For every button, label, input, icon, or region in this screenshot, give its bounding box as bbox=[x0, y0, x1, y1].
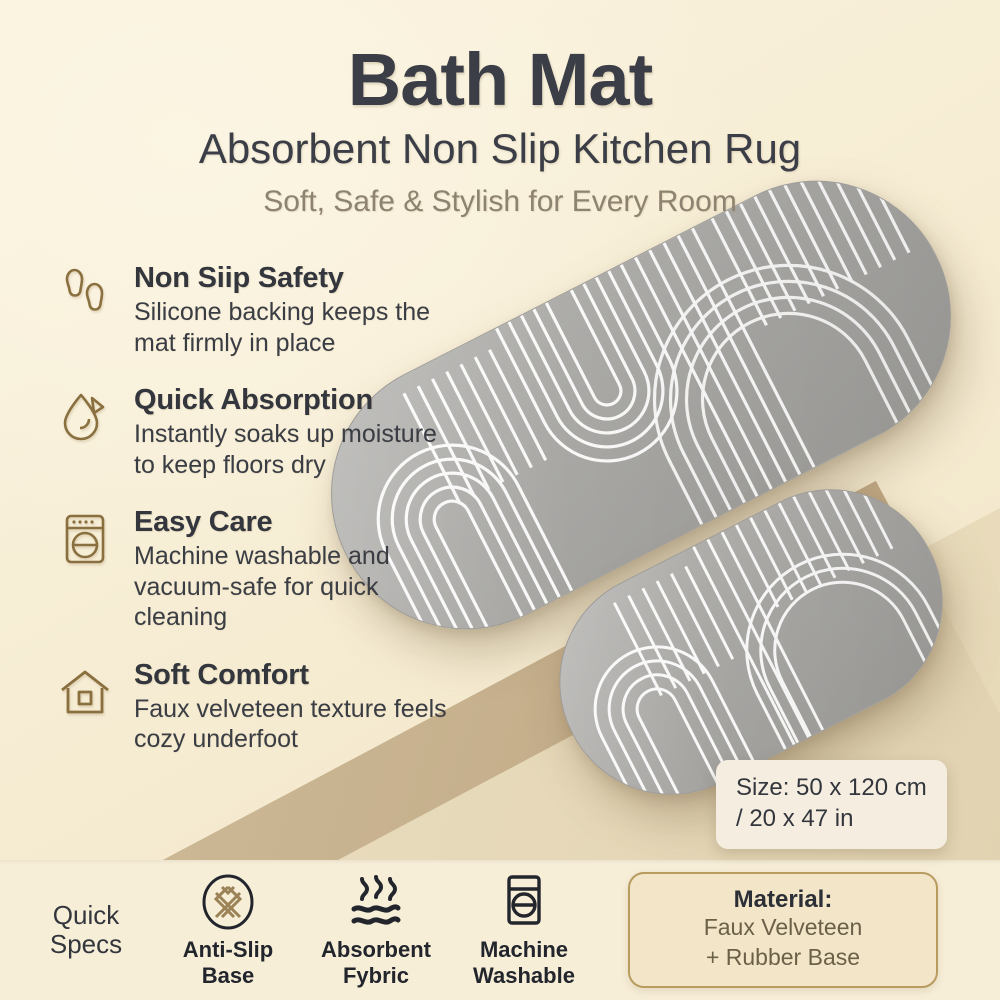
spec-label-line-2: Fybric bbox=[302, 963, 450, 989]
size-badge-line-2: / 20 x 47 in bbox=[736, 804, 927, 835]
feature-title: Soft Comfort bbox=[134, 659, 456, 692]
header: Bath Mat Absorbent Non Slip Kitchen Rug … bbox=[0, 0, 1000, 217]
feature-item-non-slip: Non Siip Safety Silicone backing keeps t… bbox=[56, 262, 456, 358]
feature-title: Quick Absorption bbox=[134, 384, 456, 417]
spec-label-line-1: Machine bbox=[450, 937, 598, 963]
material-box: Material: Faux Velveteen + Rubber Base bbox=[628, 872, 938, 988]
feature-description: Machine washable and vacuum-safe for qui… bbox=[134, 541, 456, 633]
size-badge-line-1: Size: 50 x 120 cm bbox=[736, 773, 927, 804]
footprints-icon bbox=[56, 266, 114, 324]
water-drop-icon bbox=[56, 388, 114, 446]
spec-label-line-2: Washable bbox=[450, 963, 598, 989]
feature-title: Easy Care bbox=[134, 506, 456, 539]
feature-description: Silicone backing keeps the mat firmly in… bbox=[134, 297, 456, 358]
page-subtitle: Absorbent Non Slip Kitchen Rug bbox=[0, 127, 1000, 171]
feature-description: Instantly soaks up moisture to keep floo… bbox=[134, 419, 456, 480]
spec-machine-washable: Machine Washable bbox=[450, 871, 598, 989]
material-line-1: Faux Velveteen bbox=[640, 913, 926, 942]
spec-absorbent-fabric: Absorbent Fybric bbox=[302, 871, 450, 989]
spec-anti-slip-base: Anti-Slip Base bbox=[154, 871, 302, 989]
material-title: Material: bbox=[640, 886, 926, 914]
washer-icon bbox=[450, 871, 598, 931]
spec-label-line-1: Absorbent bbox=[302, 937, 450, 963]
page-title: Bath Mat bbox=[0, 0, 1000, 117]
quick-specs-label-line-1: Quick bbox=[18, 901, 154, 930]
material-line-2: + Rubber Base bbox=[640, 943, 926, 972]
spec-label-line-1: Anti-Slip bbox=[154, 937, 302, 963]
quick-specs-bar: Quick Specs Anti-Slip Base bbox=[0, 860, 1000, 1000]
feature-title: Non Siip Safety bbox=[134, 262, 456, 295]
lattice-circle-icon bbox=[154, 871, 302, 931]
size-badge: Size: 50 x 120 cm / 20 x 47 in bbox=[716, 760, 947, 849]
house-icon bbox=[56, 663, 114, 721]
quick-specs-label: Quick Specs bbox=[0, 901, 154, 959]
page-tagline: Soft, Safe & Stylish for Every Room bbox=[0, 186, 1000, 218]
washing-machine-icon bbox=[56, 510, 114, 568]
feature-item-absorption: Quick Absorption Instantly soaks up mois… bbox=[56, 384, 456, 480]
feature-item-soft-comfort: Soft Comfort Faux velveteen texture feel… bbox=[56, 659, 456, 755]
feature-list: Non Siip Safety Silicone backing keeps t… bbox=[56, 262, 456, 781]
feature-item-easy-care: Easy Care Machine washable and vacuum-sa… bbox=[56, 506, 456, 633]
spec-label-line-2: Base bbox=[154, 963, 302, 989]
steam-waves-icon bbox=[302, 871, 450, 931]
quick-specs-label-line-2: Specs bbox=[18, 930, 154, 959]
infographic-page: Bath Mat Absorbent Non Slip Kitchen Rug … bbox=[0, 0, 1000, 1000]
feature-description: Faux velveteen texture feels cozy underf… bbox=[134, 694, 456, 755]
